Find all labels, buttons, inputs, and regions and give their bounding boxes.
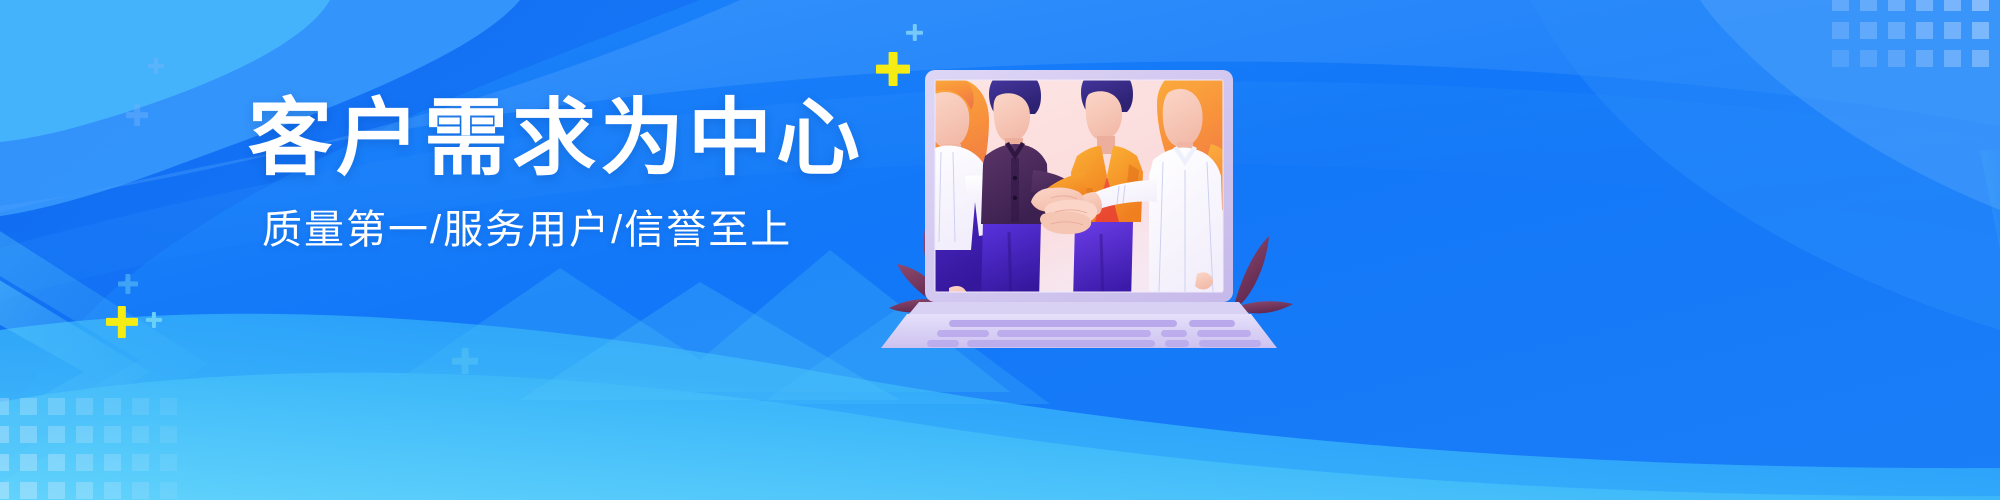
page-subtitle: 质量第一/服务用户/信誉至上 xyxy=(262,208,868,252)
promo-banner: 客户需求为中心 质量第一/服务用户/信誉至上 xyxy=(0,0,2000,500)
laptop-hinge xyxy=(909,302,1249,314)
dot-grid-top-right xyxy=(1832,0,2000,78)
plus-cyan-mid-icon xyxy=(452,348,478,374)
plus-cyan-small-bottom-icon xyxy=(146,312,162,328)
plus-yellow-large-bottom-icon xyxy=(106,306,138,338)
plus-cyan-small-top-icon xyxy=(906,24,923,41)
leaf-decoration-right xyxy=(1235,236,1293,313)
headline-group: 客户需求为中心 质量第一/服务用户/信誉至上 xyxy=(248,96,868,252)
plus-cyan-faint-left-icon xyxy=(118,274,138,294)
page-title: 客户需求为中心 xyxy=(248,96,868,182)
plus-white-faint-upper-icon xyxy=(148,58,164,74)
dot-grid-bottom-left xyxy=(0,398,188,500)
laptop-team-illustration xyxy=(905,52,1325,352)
plus-white-faint-mid-icon xyxy=(126,104,148,126)
laptop-keyboard xyxy=(927,320,1261,347)
